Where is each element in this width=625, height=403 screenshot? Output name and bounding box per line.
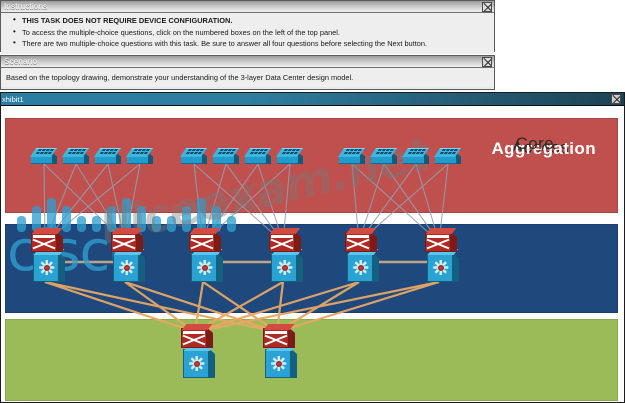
access-switch-icon [95,148,122,165]
access-switch-icon [31,148,58,165]
list-item: To access the multiple-choice questions,… [22,28,489,39]
exhibit-title-bar: xhibit1 [1,93,624,106]
layer-band-core [5,319,618,401]
scenario-title: Scenario [4,57,37,66]
instructions-title: Instructions [4,2,47,11]
instructions-title-bar: Instructions [1,1,494,13]
multilayer-switch-icon [425,228,462,284]
access-switch-icon [339,148,366,165]
access-switch-icon [277,148,304,165]
multilayer-switch-icon [111,228,148,284]
screen: Instructions THIS TASK DOES NOT REQUIRE … [0,0,625,403]
multilayer-switch-icon [31,228,68,284]
multilayer-switch-icon [269,228,306,284]
scenario-panel: Scenario Based on the topology drawing, … [0,55,495,90]
access-switch-icon [245,148,272,165]
layer-label-core: Core [516,134,554,154]
layer-band-aggregation [5,224,618,313]
layer-band-access [5,118,618,213]
instructions-panel: Instructions THIS TASK DOES NOT REQUIRE … [0,0,495,52]
scenario-body: Based on the topology drawing, demonstra… [1,68,494,87]
list-item: There are two multiple-choice questions … [22,39,489,50]
exhibit-title: xhibit1 [2,95,24,104]
instructions-list: THIS TASK DOES NOT REQUIRE DEVICE CONFIG… [6,16,489,50]
access-switch-icon [403,148,430,165]
multilayer-switch-icon [345,228,382,284]
instructions-body: THIS TASK DOES NOT REQUIRE DEVICE CONFIG… [1,13,494,54]
access-switch-icon [127,148,154,165]
scenario-title-bar: Scenario [1,56,494,68]
topology-diagram: cisco lliceexam.net Access Aggregation C… [1,106,624,402]
access-switch-icon [63,148,90,165]
multilayer-switch-icon [189,228,226,284]
scenario-text: Based on the topology drawing, demonstra… [6,72,489,83]
close-icon[interactable] [482,57,492,67]
close-icon[interactable] [611,94,621,104]
exhibit-window: xhibit1 cisco lliceexam.net [0,92,625,403]
access-switch-icon [213,148,240,165]
multilayer-switch-icon [263,324,300,380]
access-switch-icon [371,148,398,165]
access-switch-icon [435,148,462,165]
multilayer-switch-icon [181,324,218,380]
list-item: THIS TASK DOES NOT REQUIRE DEVICE CONFIG… [22,16,489,27]
close-icon[interactable] [482,2,492,12]
access-switch-icon [181,148,208,165]
